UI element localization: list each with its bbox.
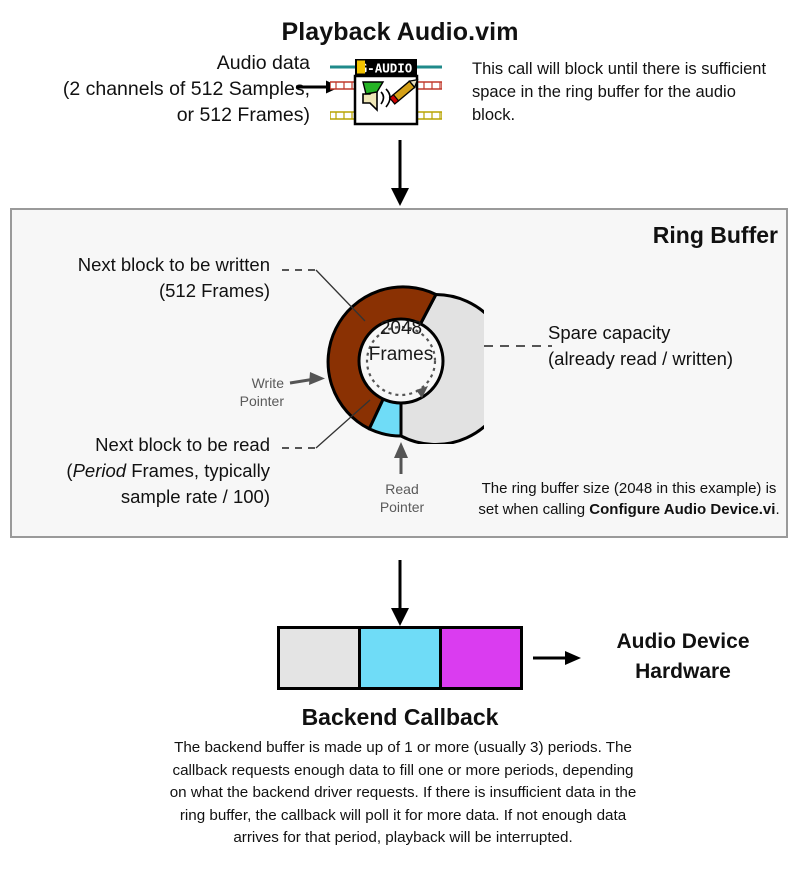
write-pointer-label: Write Pointer [214, 374, 284, 410]
g-audio-vi-icon[interactable]: G-AUDIO [330, 58, 442, 126]
read-pointer-line-2: Pointer [362, 498, 442, 516]
read-block-period-italic: Period [73, 460, 126, 481]
ring-buffer-size-note: The ring buffer size (2048 in this examp… [474, 478, 784, 520]
ringbuffer-to-backend-arrow [388, 560, 412, 626]
device-line-1: Audio Device [578, 627, 788, 657]
read-block-line-2: (Period Frames, typically [10, 458, 270, 484]
label-next-block-read: Next block to be read (Period Frames, ty… [10, 432, 270, 510]
backend-callback-note: The backend buffer is made up of 1 or mo… [168, 737, 638, 850]
label-spare-capacity: Spare capacity (already read / written) [548, 320, 788, 372]
backend-callback-heading: Backend Callback [0, 704, 800, 731]
write-pointer-arrow-icon [290, 372, 325, 385]
vi-icon-title: G-AUDIO [360, 61, 413, 76]
size-note-prefix: set when calling [478, 501, 589, 518]
leader-written-line [316, 270, 365, 321]
vi-to-ringbuffer-arrow [388, 140, 412, 206]
spare-line-2: (already read / written) [548, 346, 788, 372]
page-title: Playback Audio.vim [0, 18, 800, 47]
backend-segment-spare [280, 629, 358, 687]
audio-data-line-1: Audio data [30, 50, 310, 76]
leader-read-line [316, 400, 370, 448]
read-block-line-3: sample rate / 100) [10, 484, 270, 510]
audio-data-line-3: or 512 Frames) [30, 102, 310, 128]
write-block-line-1: Next block to be written [10, 252, 270, 278]
audio-data-label: Audio data (2 channels of 512 Samples, o… [30, 50, 310, 128]
audio-data-line-2: (2 channels of 512 Samples, [30, 76, 310, 102]
write-pointer-line-2: Pointer [214, 392, 284, 410]
write-block-line-2: (512 Frames) [10, 278, 270, 304]
read-pointer-arrow-icon [394, 442, 408, 474]
backend-to-device-arrow [533, 648, 581, 668]
size-note-line-2: set when calling Configure Audio Device.… [474, 499, 784, 520]
read-pointer-label: Read Pointer [362, 480, 442, 516]
audio-device-hardware-label: Audio Device Hardware [578, 627, 788, 687]
spare-line-1: Spare capacity [548, 320, 788, 346]
configure-audio-device-vi-name: Configure Audio Device.vi [589, 501, 775, 518]
blocking-note: This call will block until there is suff… [472, 58, 772, 127]
read-block-line-1: Next block to be read [10, 432, 270, 458]
size-note-line-1: The ring buffer size (2048 in this examp… [474, 478, 784, 499]
label-next-block-written: Next block to be written (512 Frames) [10, 252, 270, 304]
backend-segment-read [358, 629, 439, 687]
write-pointer-line-1: Write [214, 374, 284, 392]
read-block-line-2-rest: Frames, typically [126, 460, 270, 481]
backend-segment-pending [439, 629, 520, 687]
device-line-2: Hardware [578, 657, 788, 687]
read-pointer-line-1: Read [362, 480, 442, 498]
size-note-suffix: . [775, 501, 779, 518]
backend-buffer [277, 626, 523, 690]
